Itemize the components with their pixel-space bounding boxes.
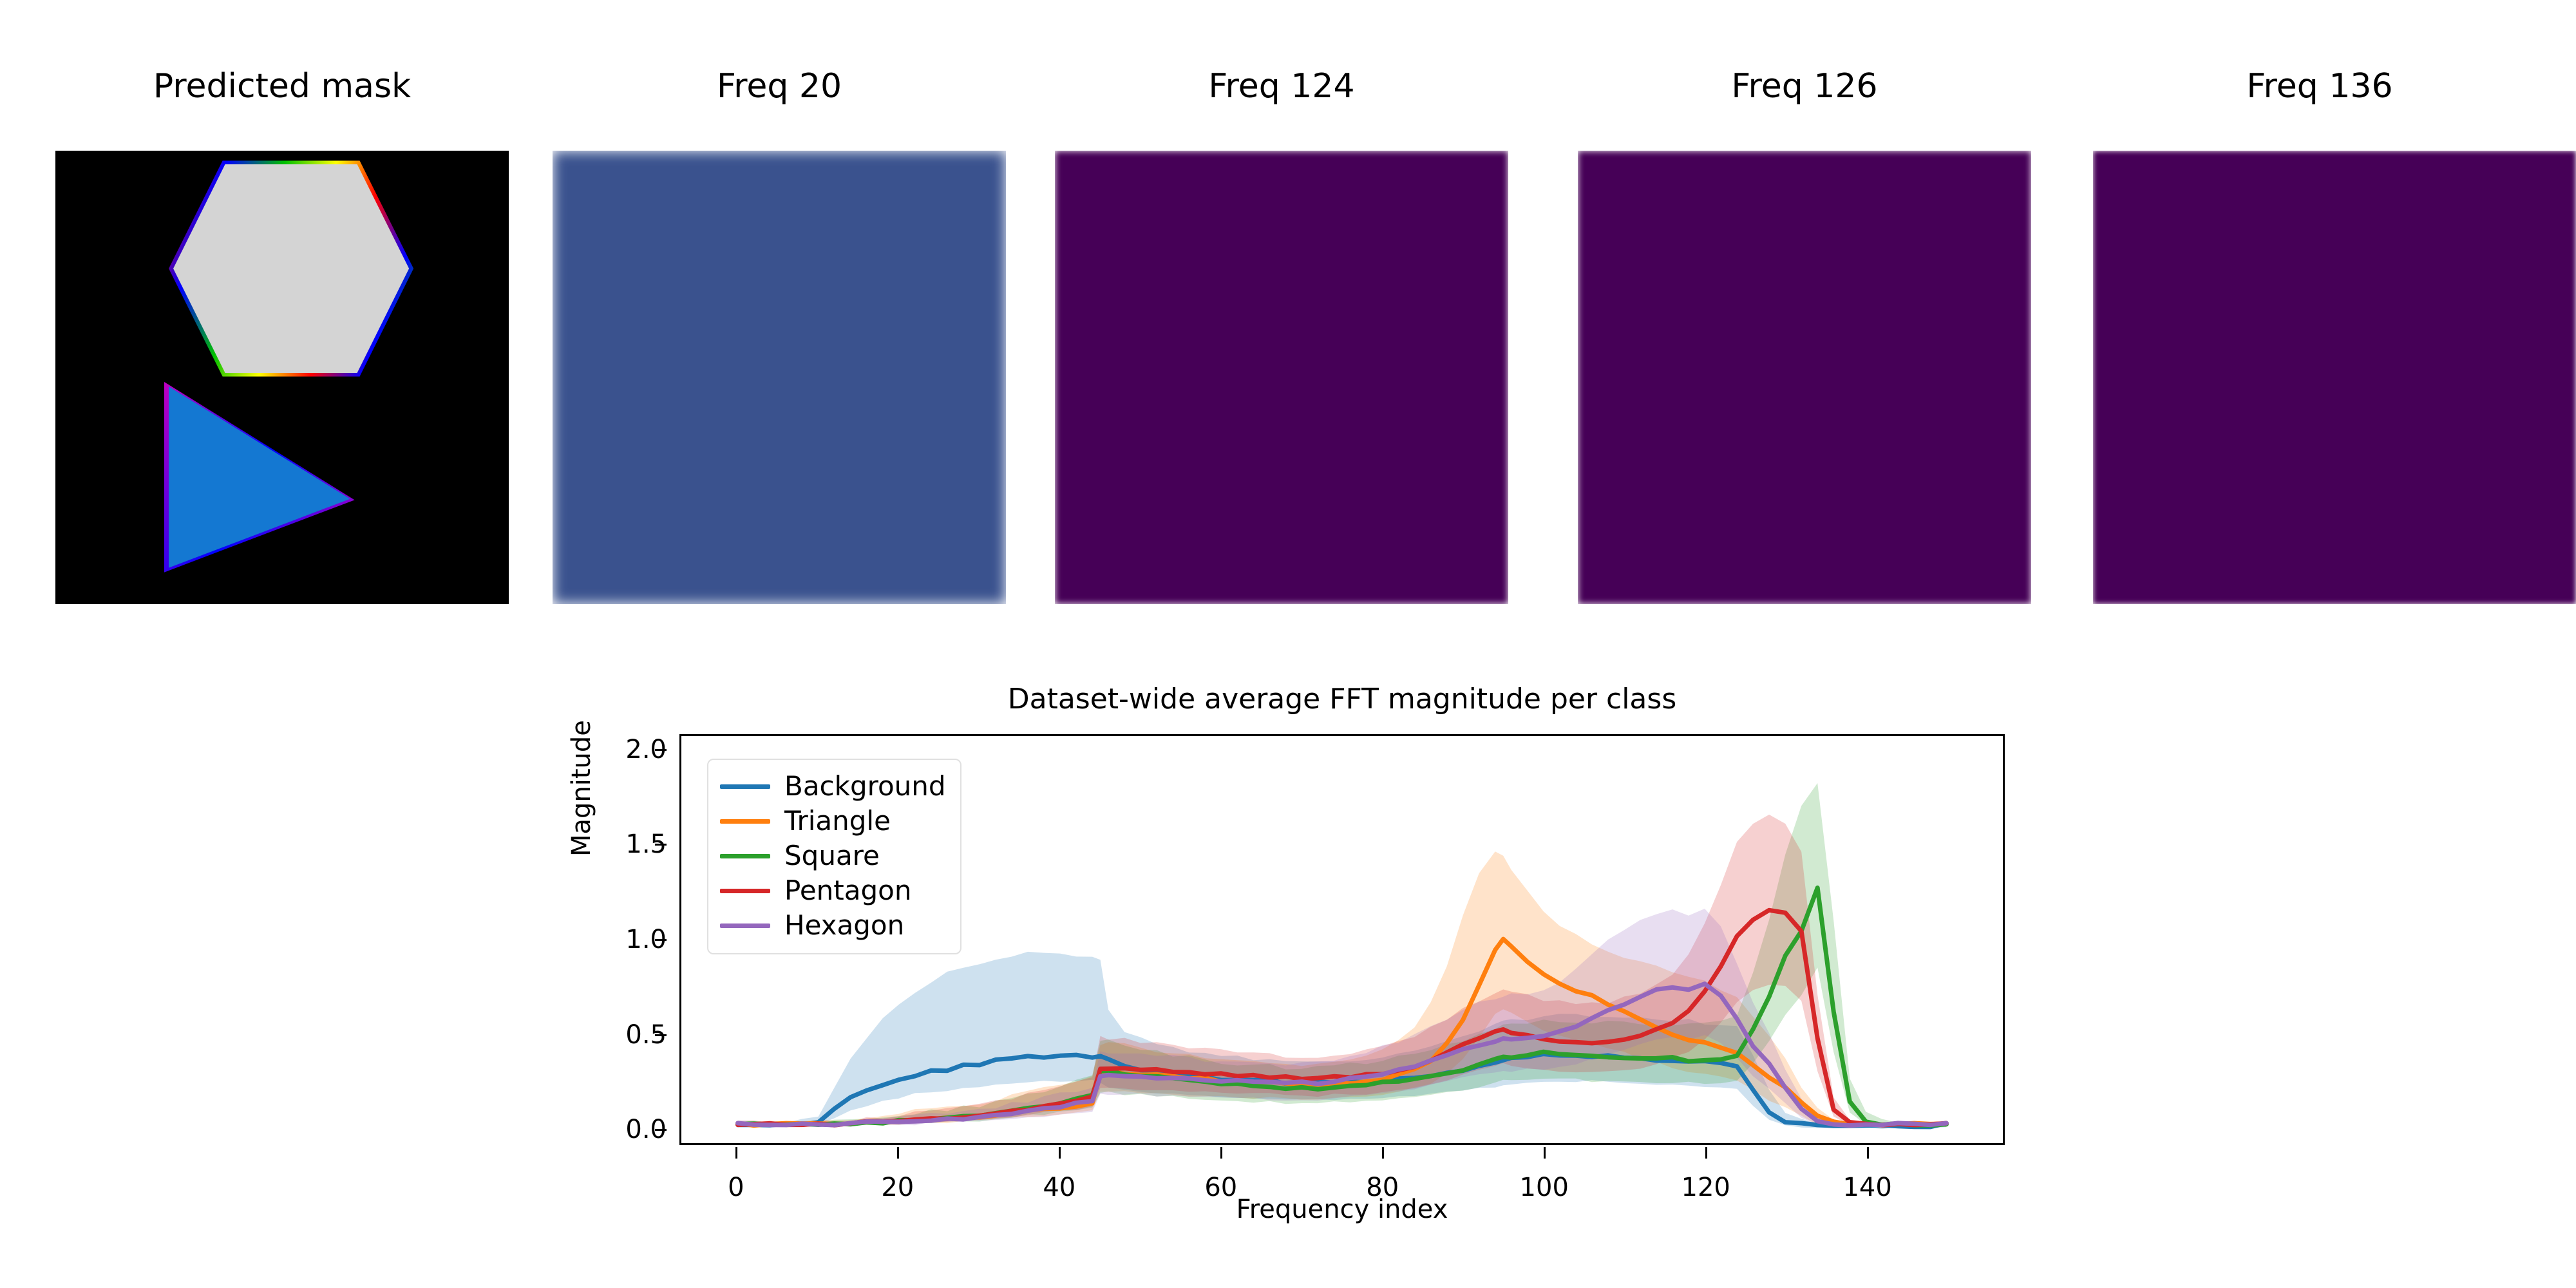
x-axis-ticks: 020406080100120140 [679,1147,2005,1224]
panel-freq-126 [1578,151,2031,604]
panel-predicted-mask [55,151,509,604]
legend-swatch-hexagon [720,923,770,928]
x-tick-mark [1382,1147,1384,1159]
panel-title-predicted-mask: Predicted mask [55,70,509,103]
panel-freq-124 [1055,151,1508,604]
x-tick-mark [1544,1147,1546,1159]
legend-item-hexagon[interactable]: Hexagon [720,908,946,943]
panel-freq-136 [2093,151,2576,604]
panel-title-freq-124: Freq 124 [1055,70,1508,103]
panel-freq-20 [553,151,1006,604]
legend-swatch-square [720,854,770,858]
y-tick-mark [655,1129,667,1131]
legend-item-triangle[interactable]: Triangle [720,804,946,838]
heatmap-freq-126 [1578,151,2031,604]
x-tick-label: 80 [1366,1173,1399,1202]
x-tick-mark [1220,1147,1222,1159]
chart-title: Dataset-wide average FFT magnitude per c… [679,683,2005,715]
y-tick-mark [655,749,667,751]
panel-title-freq-20: Freq 20 [553,70,1006,103]
legend-swatch-background [720,784,770,789]
x-tick-label: 0 [728,1173,744,1202]
panel-title-freq-136: Freq 136 [2093,70,2546,103]
x-tick-label: 120 [1681,1173,1730,1202]
x-tick-mark [897,1147,899,1159]
x-tick-mark [1059,1147,1061,1159]
x-tick-label: 40 [1043,1173,1075,1202]
y-tick-mark [655,1034,667,1036]
y-axis-label: Magnitude [567,720,596,857]
legend-item-pentagon[interactable]: Pentagon [720,873,946,908]
y-tick-mark [655,939,667,941]
x-tick-mark [735,1147,737,1159]
x-tick-label: 140 [1842,1173,1891,1202]
y-axis-ticks: 0.00.51.01.52.0 [605,734,667,1145]
panel-title-freq-126: Freq 126 [1578,70,2031,103]
x-tick-label: 20 [881,1173,914,1202]
legend-swatch-triangle [720,819,770,824]
legend-label-background: Background [784,773,946,800]
legend-label-triangle: Triangle [784,808,891,835]
y-tick-mark [655,844,667,846]
legend-label-pentagon: Pentagon [784,877,911,904]
legend-label-hexagon: Hexagon [784,912,904,939]
legend-label-square: Square [784,842,880,869]
x-tick-mark [1867,1147,1869,1159]
x-tick-label: 100 [1520,1173,1569,1202]
x-tick-label: 60 [1204,1173,1237,1202]
chart-legend: Background Triangle Square Pentagon Hexa… [707,759,961,954]
heatmap-freq-20 [553,151,1006,604]
heatmap-freq-136 [2093,151,2576,604]
legend-item-square[interactable]: Square [720,838,946,873]
legend-item-background[interactable]: Background [720,769,946,804]
heatmap-freq-124 [1055,151,1508,604]
x-tick-mark [1705,1147,1707,1159]
figure-canvas: Predicted mask Freq 20 Freq 124 Freq 126… [0,0,2576,1288]
legend-swatch-pentagon [720,889,770,893]
